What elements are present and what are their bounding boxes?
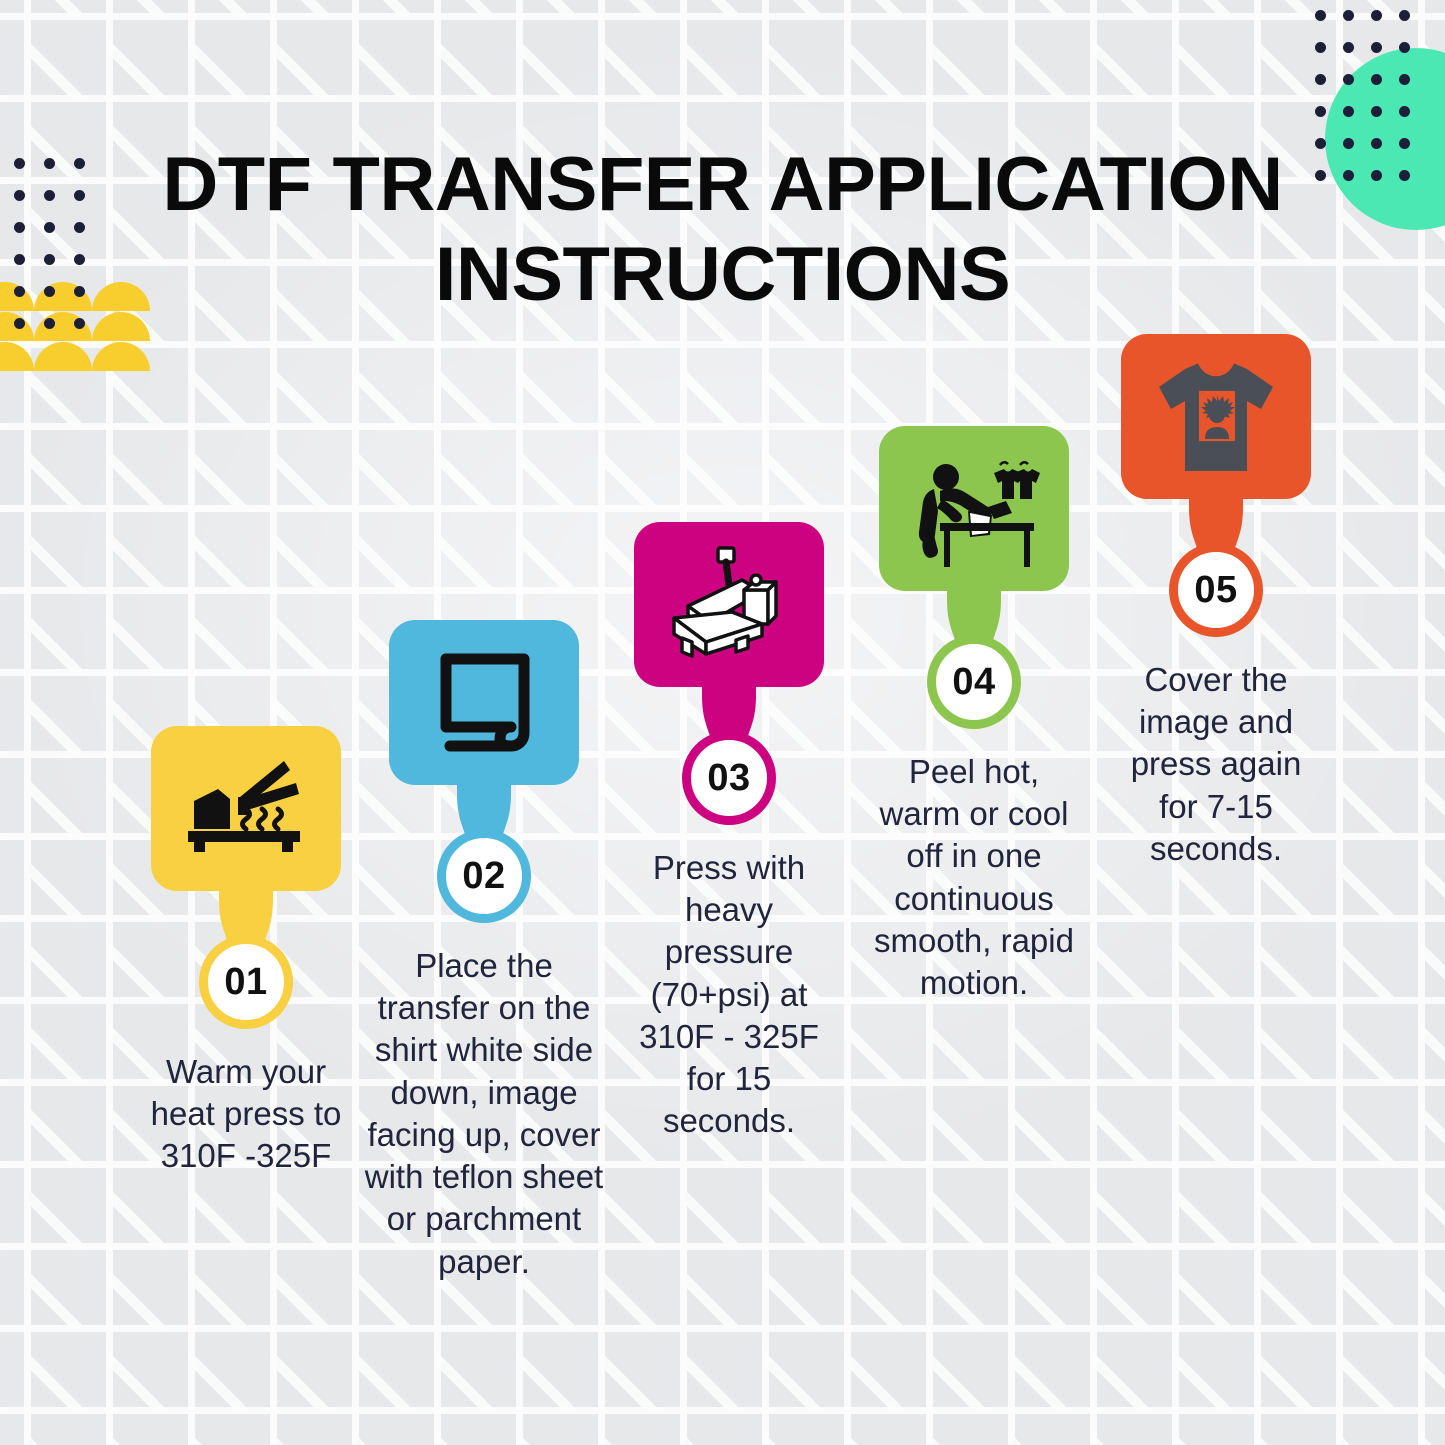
step-card-03[interactable]: 03 Press with heavy pressure (70+psi) at… <box>603 522 855 1143</box>
step-card-02[interactable]: 02 Place the transfer on the shirt white… <box>358 620 610 1283</box>
step-04-number: 04 <box>952 661 995 704</box>
worker-peeling-icon <box>908 451 1040 567</box>
step-05-caption: Cover the image and press again for 7-15… <box>1110 659 1322 870</box>
step-03-caption: Press with heavy pressure (70+psi) at 31… <box>617 847 842 1143</box>
step-card-05[interactable]: 05 Cover the image and press again for 7… <box>1090 334 1342 870</box>
step-03-icon-tile <box>634 522 824 687</box>
step-04-caption: Peel hot, warm or cool off in one contin… <box>870 751 1078 1004</box>
step-01-number: 01 <box>224 961 267 1004</box>
step-02-number: 02 <box>462 855 505 898</box>
title-line-1: DTF TRANSFER APPLICATION <box>128 140 1316 230</box>
step-card-04[interactable]: 04 Peel hot, warm or cool off in one con… <box>848 426 1100 1004</box>
step-05-icon-tile <box>1121 334 1311 499</box>
transfer-sheet-icon <box>428 647 540 759</box>
step-02-number-badge: 02 <box>437 829 531 923</box>
step-03-number: 03 <box>707 757 750 800</box>
heat-press-open-icon <box>184 757 308 861</box>
title-line-2: INSTRUCTIONS <box>128 230 1316 320</box>
step-05-number: 05 <box>1194 569 1237 612</box>
step-01-caption: Warm your heat press to 310F -325F <box>131 1051 361 1178</box>
heat-press-machine-icon <box>666 546 792 664</box>
page-title: DTF TRANSFER APPLICATION INSTRUCTIONS <box>0 140 1445 319</box>
step-03-number-badge: 03 <box>682 731 776 825</box>
step-01-icon-tile <box>151 726 341 891</box>
printed-tshirt-icon <box>1155 357 1277 477</box>
step-card-01[interactable]: 01 Warm your heat press to 310F -325F <box>120 726 372 1178</box>
step-05-number-badge: 05 <box>1169 543 1263 637</box>
step-01-number-badge: 01 <box>199 935 293 1029</box>
step-04-number-badge: 04 <box>927 635 1021 729</box>
step-04-icon-tile <box>879 426 1069 591</box>
step-02-caption: Place the transfer on the shirt white si… <box>364 945 604 1283</box>
infographic-canvas: DTF TRANSFER APPLICATION INSTRUCTIONS <box>0 0 1445 1445</box>
step-02-icon-tile <box>389 620 579 785</box>
